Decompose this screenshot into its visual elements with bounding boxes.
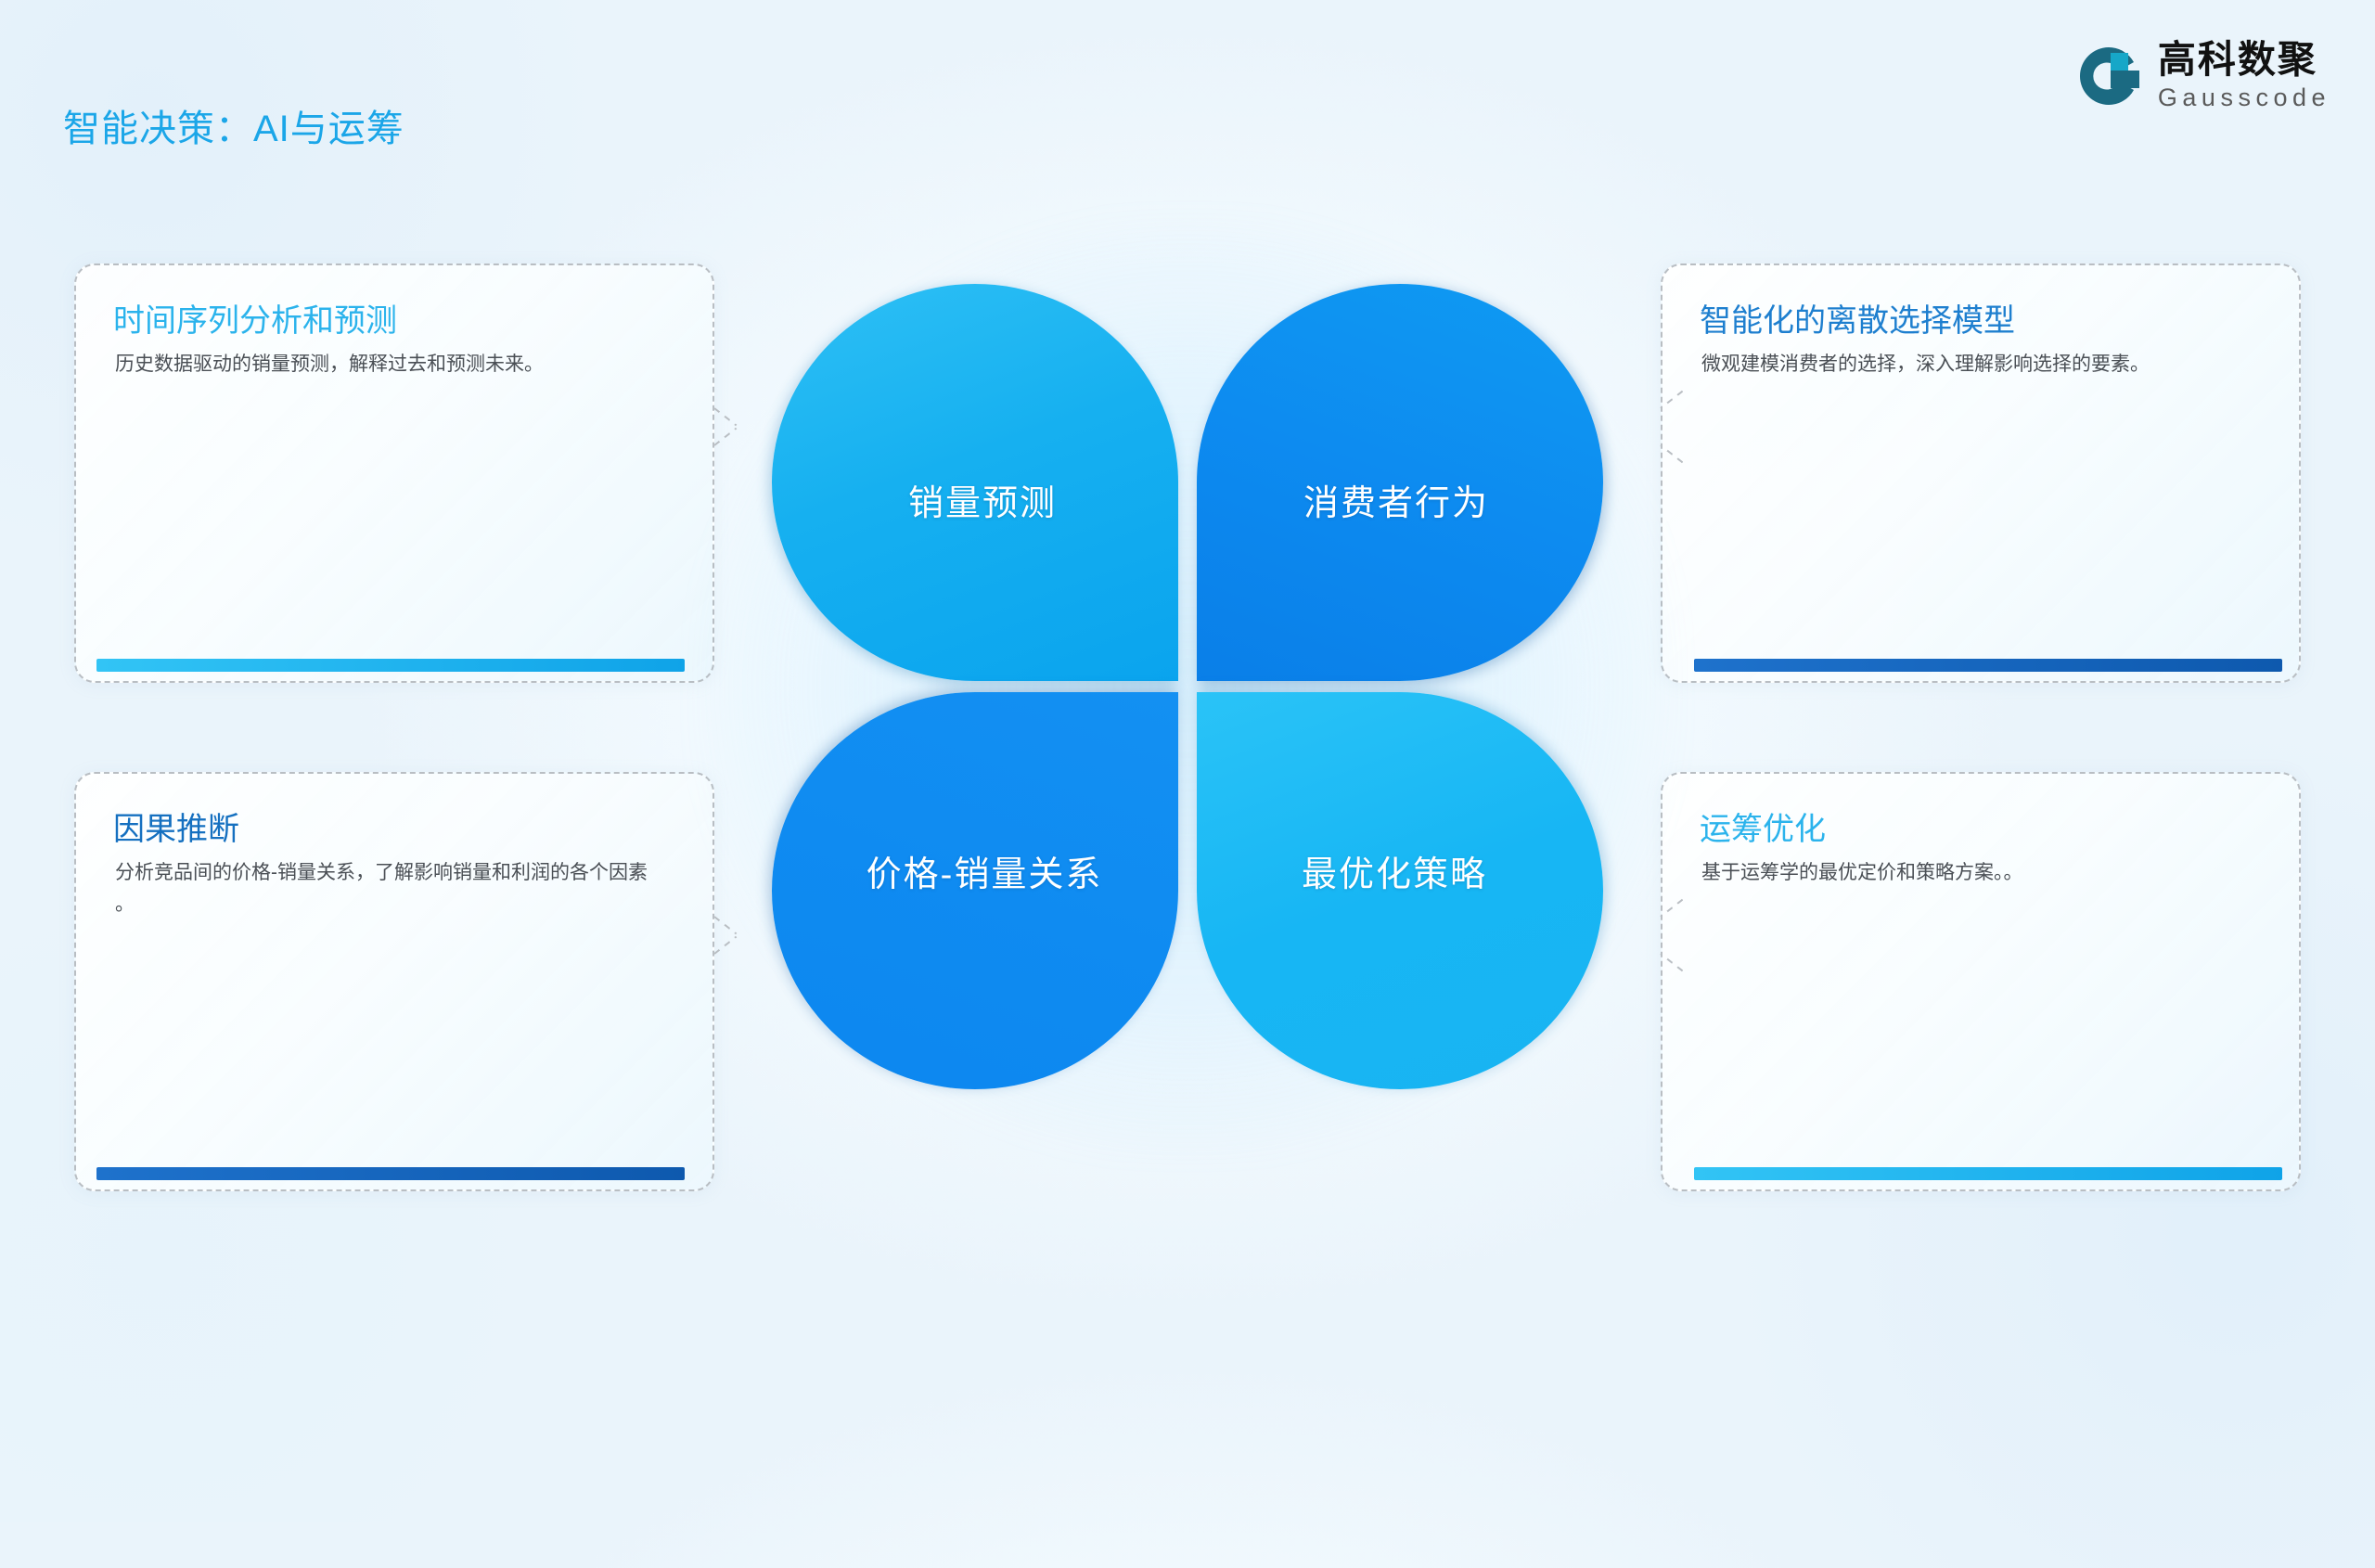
clover-diagram: 销量预测 消费者行为 价格-销量关系 最优化策略 (772, 284, 1603, 1089)
petal-optimal-strategy[interactable]: 最优化策略 (1197, 692, 1603, 1089)
card-title: 运筹优化 (1700, 803, 1826, 849)
card-title: 因果推断 (113, 803, 239, 849)
brand-logo-text: 高科数聚 Gausscode (2158, 41, 2330, 110)
card-accent-bar (1694, 1167, 2282, 1180)
petal-sales-forecast[interactable]: 销量预测 (772, 284, 1178, 681)
brand-name-en: Gausscode (2158, 85, 2330, 110)
petal-label: 消费者行为 (1303, 474, 1489, 525)
brand-logo: 高科数聚 Gausscode (2074, 41, 2330, 110)
card-body: 分析竞品间的价格-销量关系，了解影响销量和利润的各个因素 。 (115, 857, 662, 920)
card-title: 智能化的离散选择模型 (1700, 295, 2015, 341)
brand-name-cn: 高科数聚 (2158, 41, 2330, 79)
card-body: 历史数据驱动的销量预测，解释过去和预测未来。 (115, 349, 661, 380)
info-card-operations-research[interactable]: 运筹优化 基于运筹学的最优定价和策略方案。。 (1661, 772, 2301, 1191)
card-body: 基于运筹学的最优定价和策略方案。。 (1701, 857, 2258, 889)
card-accent-bar (96, 1167, 685, 1180)
page-title: 智能决策：AI与运筹 (63, 98, 404, 152)
petal-label: 销量预测 (908, 474, 1057, 525)
info-card-time-series[interactable]: 时间序列分析和预测 历史数据驱动的销量预测，解释过去和预测未来。 (74, 263, 714, 683)
page-header: 智能决策：AI与运筹 高科数聚 Gausscode (0, 0, 2375, 158)
petal-price-sales-relation[interactable]: 价格-销量关系 (772, 692, 1178, 1089)
card-accent-bar (96, 659, 685, 672)
info-card-discrete-choice[interactable]: 智能化的离散选择模型 微观建模消费者的选择，深入理解影响选择的要素。 (1661, 263, 2301, 683)
petal-label: 价格-销量关系 (867, 845, 1103, 896)
info-card-causal-inference[interactable]: 因果推断 分析竞品间的价格-销量关系，了解影响销量和利润的各个因素 。 (74, 772, 714, 1191)
card-body: 微观建模消费者的选择，深入理解影响选择的要素。 (1701, 349, 2254, 380)
card-accent-bar (1694, 659, 2282, 672)
gausscode-logo-mark-icon (2074, 42, 2143, 110)
petal-consumer-behavior[interactable]: 消费者行为 (1197, 284, 1603, 681)
petal-label: 最优化策略 (1302, 845, 1487, 896)
card-title: 时间序列分析和预测 (113, 295, 397, 341)
